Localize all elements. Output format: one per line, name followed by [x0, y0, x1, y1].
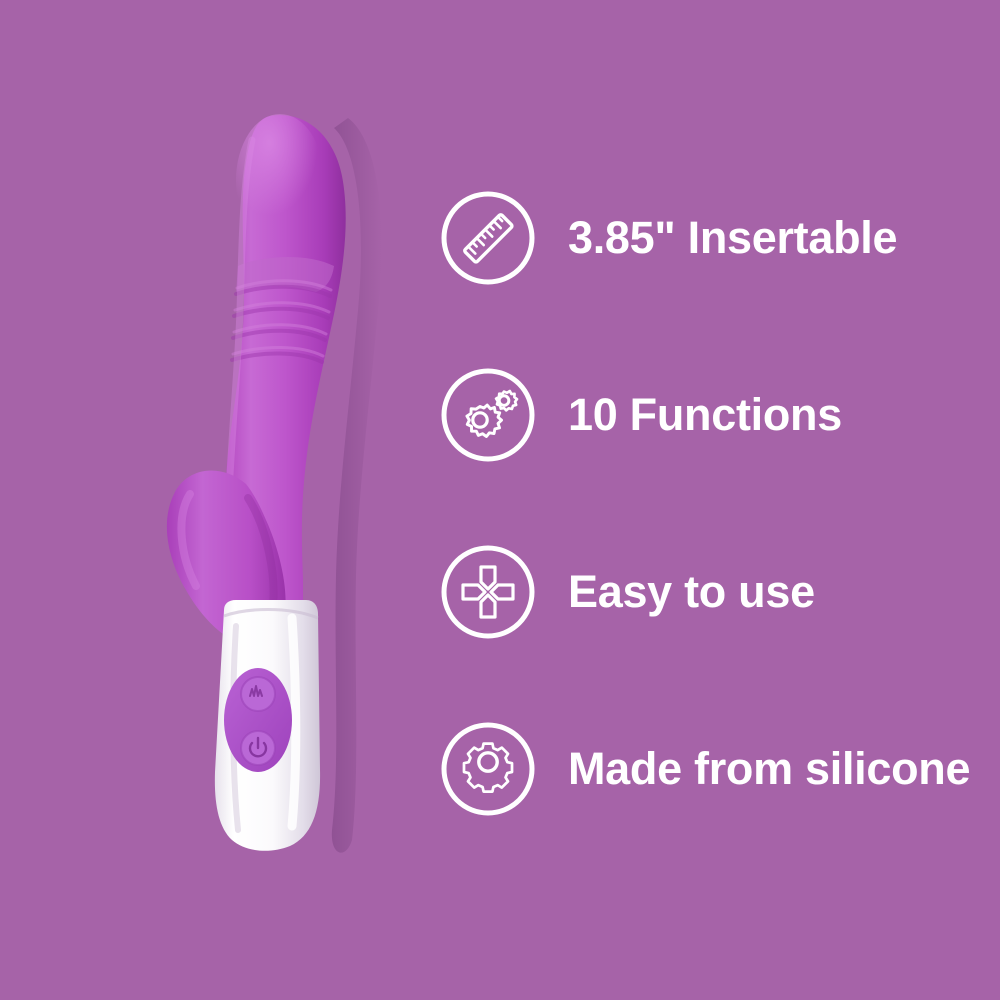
ruler-icon [440, 190, 536, 286]
feature-list: 3.85" Insertable [440, 168, 1000, 839]
feature-label-insertable-length: 3.85" Insertable [568, 214, 897, 261]
power-button [241, 731, 275, 765]
feature-row-material: Made from silicone [440, 699, 1000, 839]
product-button-panel [224, 668, 292, 772]
feature-label-functions: 10 Functions [568, 391, 842, 438]
feature-label-material: Made from silicone [568, 745, 970, 792]
feature-row-functions: 10 Functions [440, 345, 1000, 485]
feature-row-ease-of-use: Easy to use [440, 522, 1000, 662]
product-image [120, 70, 440, 870]
gear-icon [440, 721, 536, 817]
feature-row-insertable-length: 3.85" Insertable [440, 168, 1000, 308]
dpad-icon [440, 544, 536, 640]
feature-label-ease-of-use: Easy to use [568, 568, 815, 615]
product-feature-infographic: 3.85" Insertable [0, 0, 1000, 1000]
mode-button [241, 677, 275, 711]
gears-icon [440, 367, 536, 463]
